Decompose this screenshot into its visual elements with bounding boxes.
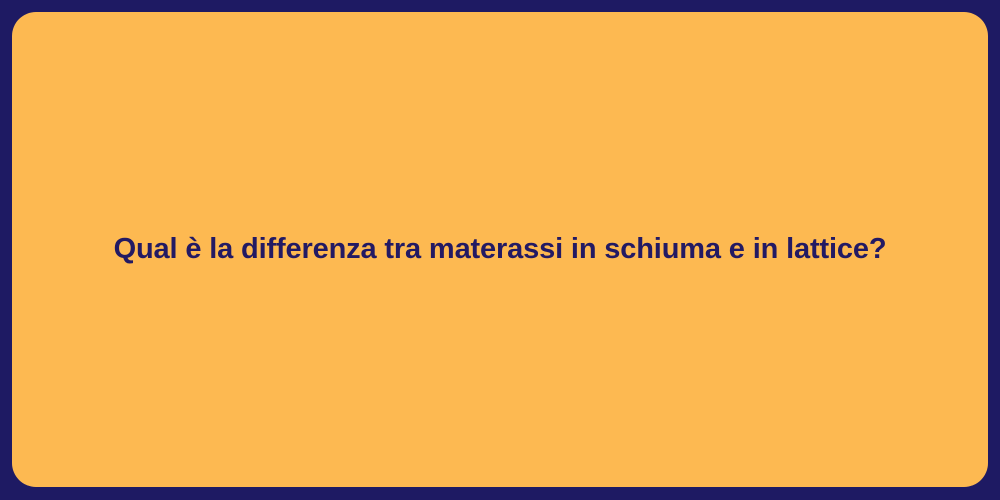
banner-frame: Qual è la differenza tra materassi in sc… — [0, 0, 1000, 500]
headline-question: Qual è la differenza tra materassi in sc… — [74, 231, 927, 267]
banner-panel: Qual è la differenza tra materassi in sc… — [12, 12, 988, 487]
